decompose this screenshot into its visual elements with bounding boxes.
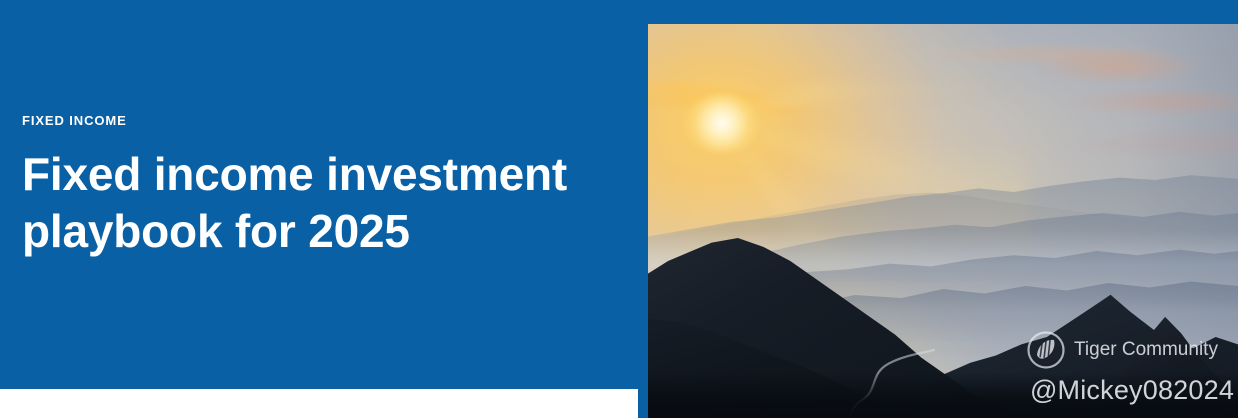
top-accent-strip xyxy=(638,0,1238,24)
page-title-line-1: Fixed income investment xyxy=(22,146,622,203)
tiger-community-logo-icon xyxy=(1026,330,1066,370)
watermark: Tiger Community @Mickey082024 xyxy=(1026,328,1238,416)
watermark-community-name: Tiger Community xyxy=(1074,339,1218,361)
panel-photo-gutter xyxy=(638,24,648,418)
watermark-handle: @Mickey082024 xyxy=(1026,374,1238,406)
page-title: Fixed income investment playbook for 202… xyxy=(22,146,622,260)
category-eyebrow: FIXED INCOME xyxy=(22,113,127,129)
fixed-income-banner: FIXED INCOME Fixed income investment pla… xyxy=(0,0,1238,418)
watermark-brand-row: Tiger Community xyxy=(1026,328,1238,372)
sun-icon xyxy=(682,94,762,152)
page-title-line-2: playbook for 2025 xyxy=(22,203,622,260)
